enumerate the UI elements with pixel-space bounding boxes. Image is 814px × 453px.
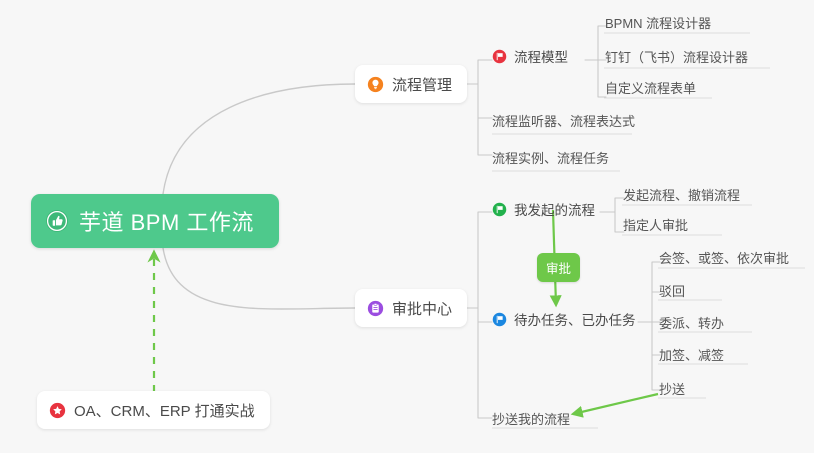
leaf-reject[interactable]: 驳回: [659, 281, 685, 300]
leaf-add-remove-signatory[interactable]: 加签、减签: [659, 345, 724, 364]
leaf-label: 发起流程、撤销流程: [623, 188, 740, 203]
link-root-to-approval-center: [163, 248, 355, 309]
leaf-start-cancel-process[interactable]: 发起流程、撤销流程: [623, 185, 740, 204]
link-todo-tasks-trunk: [638, 262, 660, 390]
branch-node-approval-center[interactable]: 审批中心: [355, 289, 467, 327]
leaf-label: 钉钉（飞书）流程设计器: [605, 50, 748, 65]
thumbs-up-icon: [45, 209, 69, 233]
leaf-label: 流程实例、流程任务: [492, 151, 609, 166]
annotation-arrow-cc-link: [573, 394, 658, 414]
link-process-model-trunk: [585, 26, 606, 97]
leaf-label: 抄送: [659, 382, 685, 397]
leaf-custom-form[interactable]: 自定义流程表单: [605, 78, 696, 97]
node-process-model[interactable]: 流程模型: [492, 46, 568, 66]
leaf-label: 自定义流程表单: [605, 81, 696, 96]
node-my-initiated-process[interactable]: 我发起的流程: [492, 199, 595, 219]
leaf-label: 指定人审批: [623, 218, 688, 233]
branch-label-process-management: 流程管理: [392, 74, 452, 95]
branch-node-process-management[interactable]: 流程管理: [355, 65, 467, 103]
annotation-badge-label: 审批: [546, 262, 571, 276]
star-badge-icon: [49, 402, 66, 419]
leaf-label: 抄送我的流程: [492, 412, 570, 427]
label-process-model: 流程模型: [514, 46, 568, 66]
leaf-label: 驳回: [659, 284, 685, 299]
flag-icon: [492, 49, 507, 64]
mindmap-canvas: 芋道 BPM 工作流 流程管理 流程模型 BPMN 流程设计器 钉钉（飞书: [0, 0, 814, 453]
leaf-cc-my-process[interactable]: 抄送我的流程: [492, 409, 570, 428]
node-todo-done-tasks[interactable]: 待办任务、已办任务: [492, 309, 636, 329]
leaf-label: BPMN 流程设计器: [605, 16, 711, 31]
bottom-note-label: OA、CRM、ERP 打通实战: [74, 400, 255, 421]
leaf-process-instance-task[interactable]: 流程实例、流程任务: [492, 148, 609, 167]
leaf-delegate-transfer[interactable]: 委派、转办: [659, 313, 724, 332]
label-todo-done-tasks: 待办任务、已办任务: [514, 309, 636, 329]
link-root-to-process-management: [163, 84, 355, 194]
flag-icon: [492, 312, 507, 327]
leaf-label: 流程监听器、流程表达式: [492, 114, 635, 129]
leaf-dingtalk-designer[interactable]: 钉钉（飞书）流程设计器: [605, 47, 748, 66]
branch-label-approval-center: 审批中心: [392, 298, 452, 319]
clipboard-icon: [367, 300, 384, 317]
flag-icon: [492, 202, 507, 217]
label-my-initiated-process: 我发起的流程: [514, 199, 595, 219]
lightbulb-icon: [367, 76, 384, 93]
leaf-bpmn-designer[interactable]: BPMN 流程设计器: [605, 13, 711, 32]
leaf-label: 委派、转办: [659, 316, 724, 331]
leaf-process-listener-expression[interactable]: 流程监听器、流程表达式: [492, 111, 635, 130]
annotation-badge-approval: 审批: [537, 253, 580, 282]
leaf-carbon-copy[interactable]: 抄送: [659, 379, 685, 398]
bottom-note-card[interactable]: OA、CRM、ERP 打通实战: [37, 391, 270, 429]
root-node[interactable]: 芋道 BPM 工作流: [31, 194, 279, 248]
root-label: 芋道 BPM 工作流: [79, 205, 254, 237]
leaf-assignee-approval[interactable]: 指定人审批: [623, 215, 688, 234]
leaf-label: 会签、或签、依次审批: [659, 251, 789, 266]
link-my-initiated-trunk: [600, 198, 624, 232]
leaf-countersign-modes[interactable]: 会签、或签、依次审批: [659, 248, 789, 267]
leaf-label: 加签、减签: [659, 348, 724, 363]
